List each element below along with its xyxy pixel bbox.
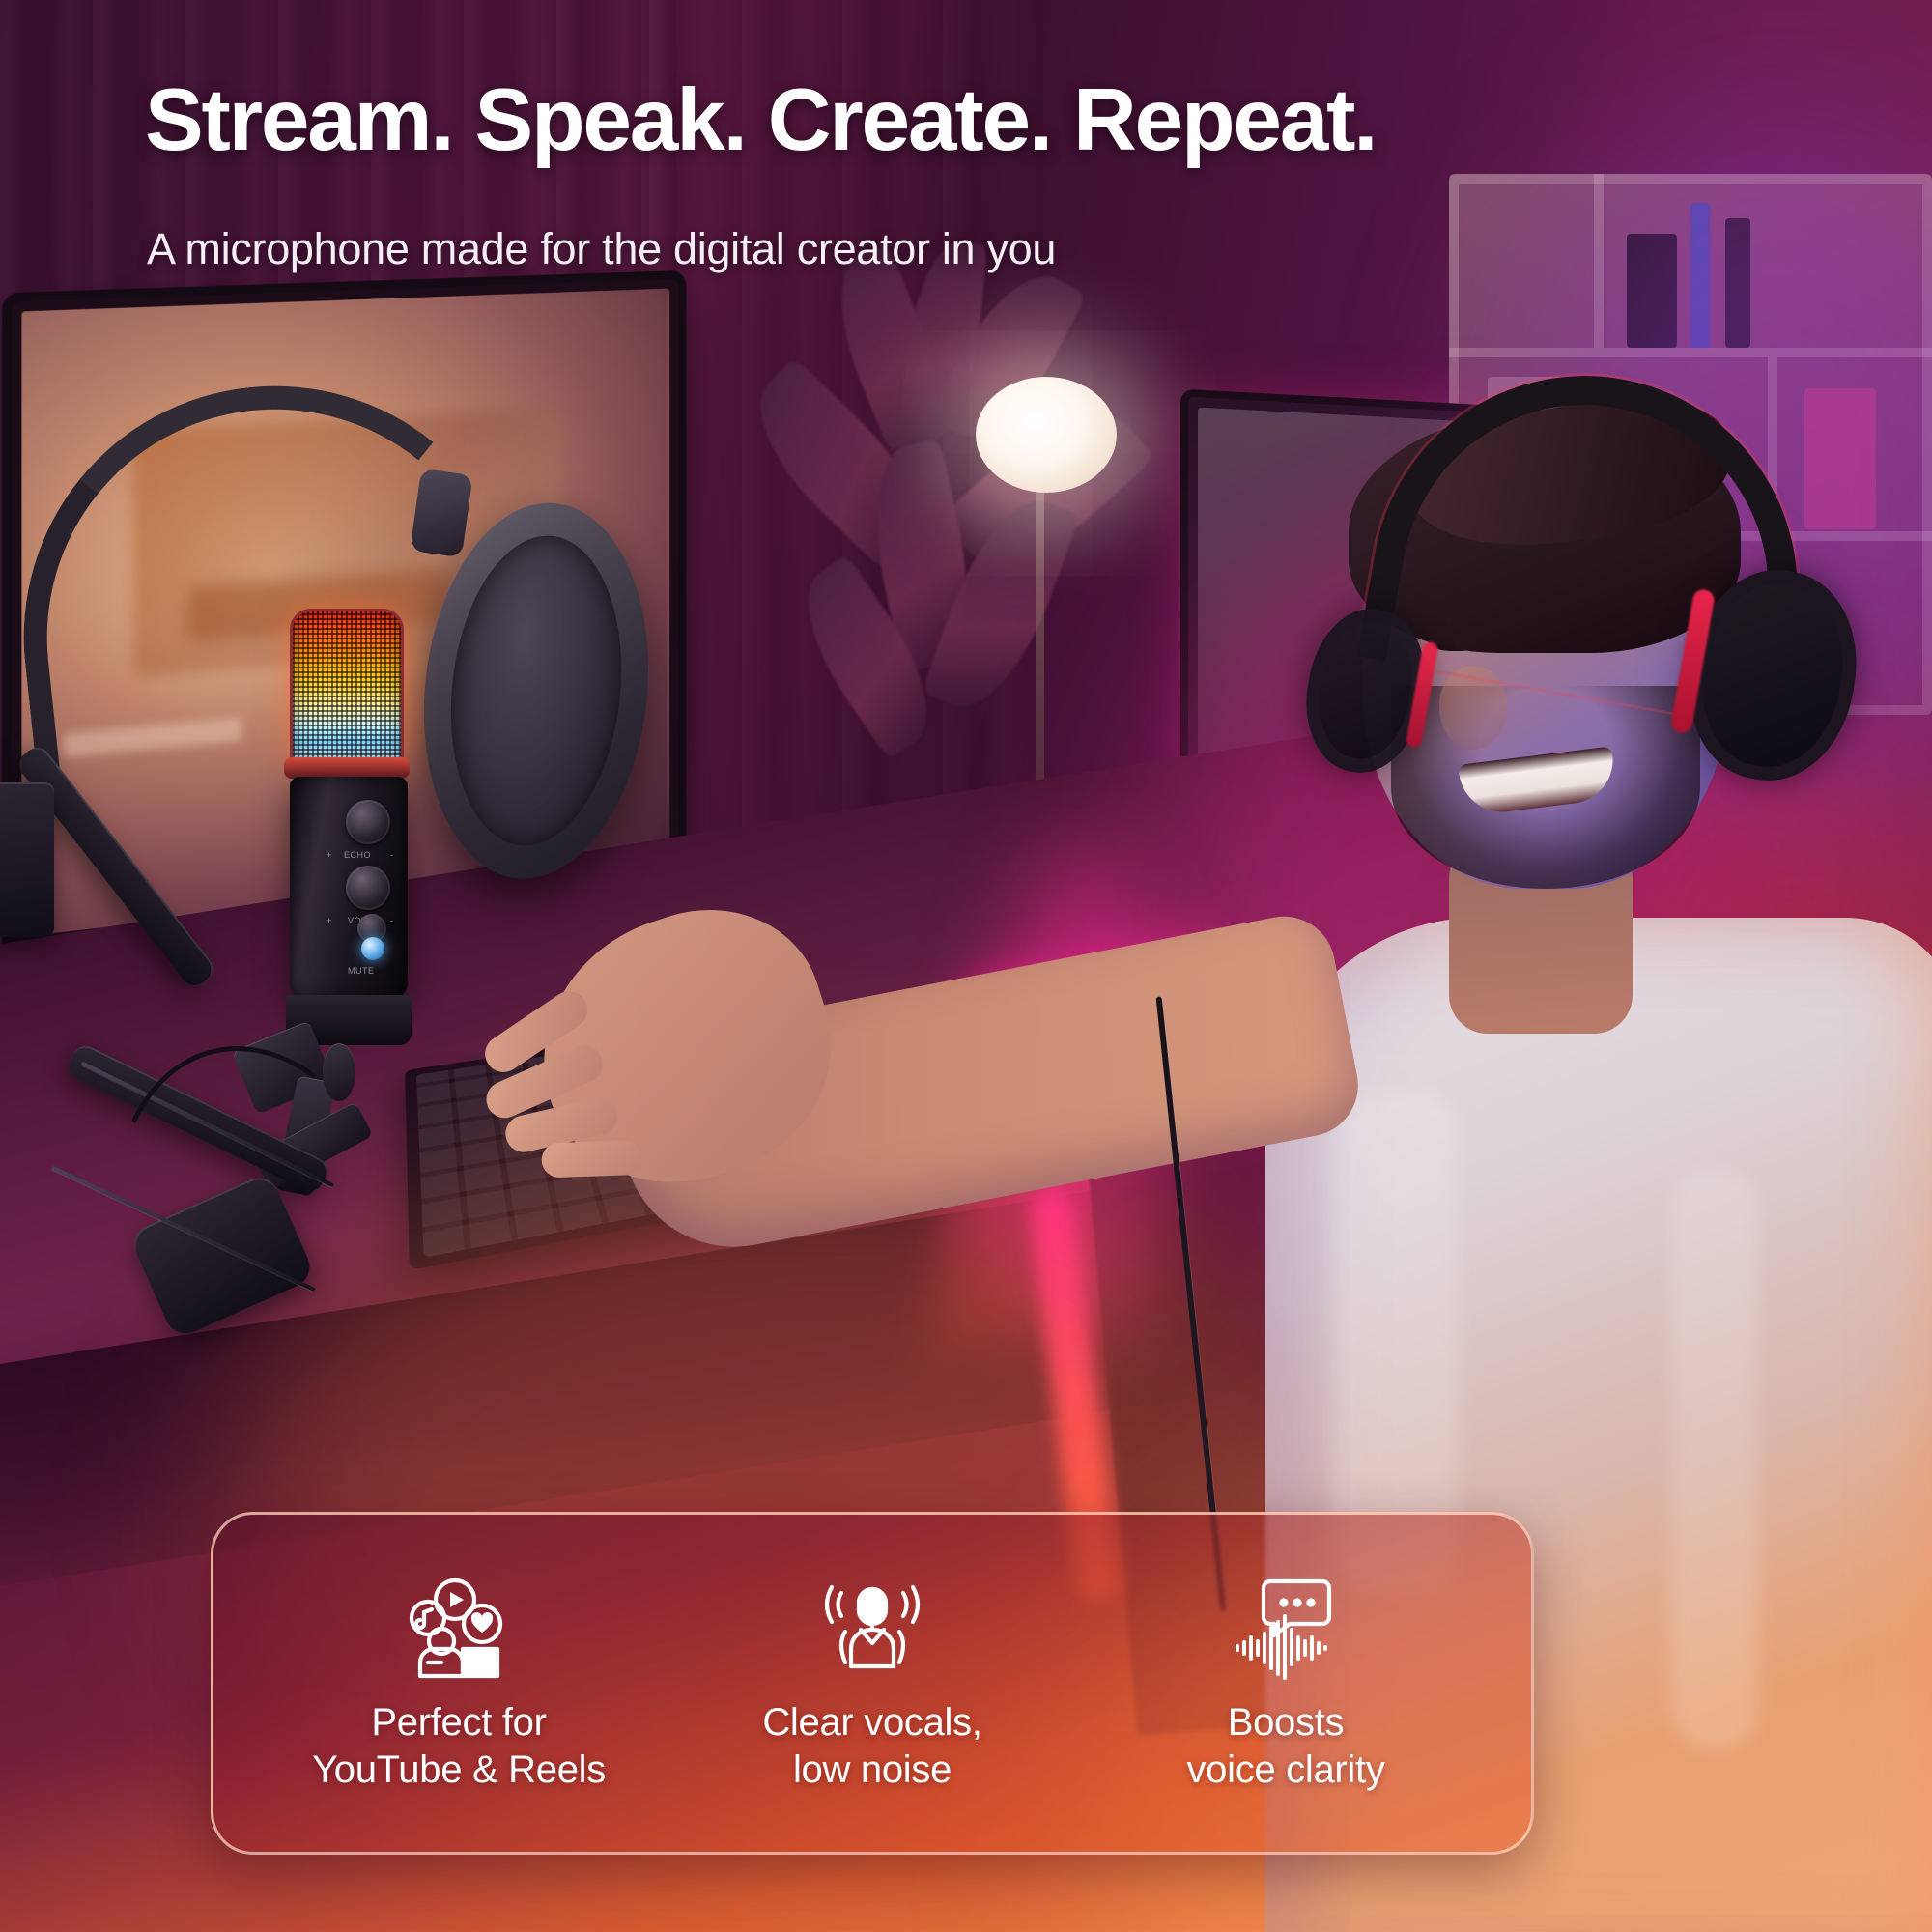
volume-knob-minus-label: - xyxy=(390,916,394,925)
microphone-collar xyxy=(284,757,410,779)
houseplant xyxy=(734,241,1150,840)
echo-knob-label: ECHO xyxy=(344,850,371,860)
echo-knob[interactable] xyxy=(346,800,390,844)
speech-bubble-waveform-icon xyxy=(1222,1574,1350,1682)
mute-button-label: MUTE xyxy=(348,966,375,976)
feature-panel: Perfect for YouTube & Reels Clear vocals… xyxy=(211,1512,1534,1855)
pop-filter-mesh xyxy=(437,527,637,854)
creator-social-media-icon xyxy=(395,1574,523,1682)
volume-knob-plus-label: + xyxy=(327,916,332,925)
microphone-rgb-grille xyxy=(290,609,404,763)
person-speaking-icon xyxy=(809,1574,936,1682)
page-subheadline: A microphone made for the digital creato… xyxy=(147,224,1789,274)
feature-label-voice-clarity: Boosts voice clarity xyxy=(1186,1699,1384,1794)
volume-knob[interactable] xyxy=(346,866,390,910)
feature-item-clear-vocals: Clear vocals, low noise xyxy=(666,1574,1079,1794)
microphone-assembly: + ECHO - + VOL - MUTE xyxy=(0,367,753,1623)
feature-item-voice-clarity: Boosts voice clarity xyxy=(1079,1574,1492,1794)
feature-label-clear-vocals: Clear vocals, low noise xyxy=(762,1699,981,1794)
boom-arm-clamp xyxy=(0,782,54,937)
page-headline: Stream. Speak. Create. Repeat. xyxy=(145,75,1845,167)
feature-label-youtube-reels: Perfect for YouTube & Reels xyxy=(312,1699,606,1794)
floor-lamp-bulb xyxy=(976,377,1117,493)
echo-knob-plus-label: + xyxy=(327,850,332,860)
feature-item-youtube-reels: Perfect for YouTube & Reels xyxy=(252,1574,666,1794)
mute-button[interactable] xyxy=(361,937,384,960)
echo-knob-minus-label: - xyxy=(390,850,394,860)
